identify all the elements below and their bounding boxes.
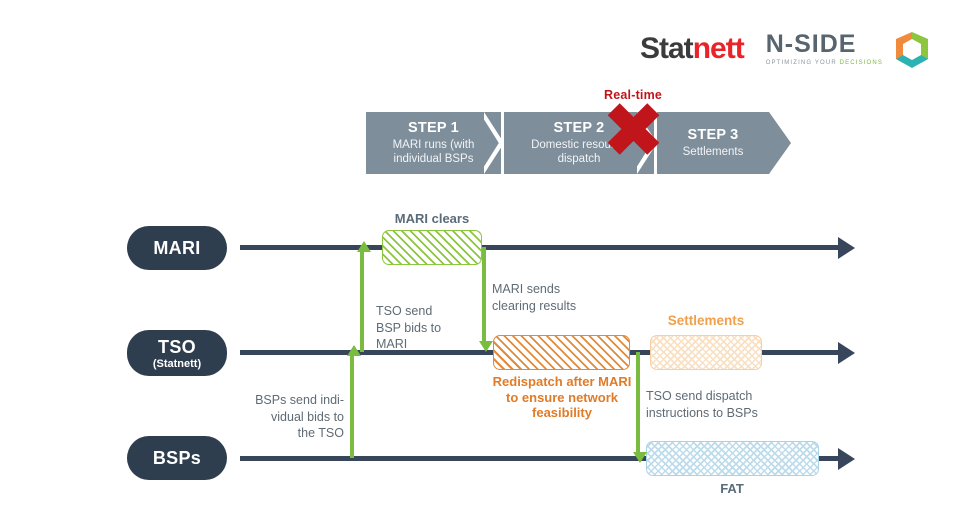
step-1-title: STEP 1 [408, 120, 459, 137]
statnett-logo: Statnett [640, 34, 744, 64]
row-label-bsps: BSPs [127, 436, 227, 480]
flow-tso-to-mari-shaft [360, 252, 364, 352]
timeline-mari-arrowhead [838, 237, 855, 259]
period-fat [646, 441, 819, 476]
step-2-title: STEP 2 [554, 120, 605, 137]
nside-tagline-plain: OPTIMIZING YOUR [766, 60, 840, 66]
step-1: STEP 1 MARI runs (with individual BSPs [366, 112, 501, 174]
note-tso-send-bsp-bids: TSO send BSP bids to MARI [376, 303, 481, 353]
timeline-tso-arrowhead [838, 342, 855, 364]
nside-logo: N-SIDE OPTIMIZING YOUR DECISIONS [766, 30, 931, 68]
row-label-mari: MARI [127, 226, 227, 270]
row-label-tso-name: TSO [158, 337, 196, 358]
timeline-mari [240, 245, 840, 250]
row-label-tso-sub: (Statnett) [153, 358, 201, 370]
nside-tagline-accent: DECISIONS [840, 60, 883, 66]
flow-bsps-to-tso-shaft [350, 356, 354, 458]
logo-bar: Statnett N-SIDE OPTIMIZING YOUR DECISION… [640, 26, 950, 72]
process-steps: STEP 1 MARI runs (with individual BSPs S… [366, 112, 791, 174]
timeline-bsps-arrowhead [838, 448, 855, 470]
nside-cube-icon [893, 30, 931, 68]
row-label-bsps-name: BSPs [153, 448, 201, 469]
period-mari-clears-label: MARI clears [372, 211, 492, 227]
flow-tso-to-mari-arrowhead [357, 241, 371, 252]
step-3: STEP 3 Settlements [657, 112, 769, 174]
statnett-logo-part1: Stat [640, 32, 693, 65]
nside-logo-name: N-SIDE [766, 32, 883, 57]
period-fat-label: FAT [672, 481, 792, 497]
nside-logo-tagline: OPTIMIZING YOUR DECISIONS [766, 60, 883, 66]
diagram-canvas: Statnett N-SIDE OPTIMIZING YOUR DECISION… [0, 0, 980, 531]
nside-logo-text: N-SIDE OPTIMIZING YOUR DECISIONS [766, 32, 883, 66]
red-x-icon [608, 104, 658, 154]
real-time-label: Real-time [604, 88, 662, 102]
step-3-title: STEP 3 [688, 127, 739, 144]
flow-bsps-to-tso-arrowhead [347, 345, 361, 356]
row-label-tso: TSO (Statnett) [127, 330, 227, 376]
note-bsps-send-individual: BSPs send indi- vidual bids to the TSO [240, 392, 344, 442]
row-label-mari-name: MARI [153, 238, 200, 259]
period-mari-clears [382, 230, 482, 265]
note-mari-sends-clearing: MARI sends clearing results [492, 281, 612, 314]
period-redispatch-label: Redispatch after MARI to ensure network … [489, 374, 635, 421]
period-settlements-label: Settlements [646, 313, 766, 329]
note-tso-send-dispatch: TSO send dispatch instructions to BSPs [646, 388, 796, 421]
period-redispatch [493, 335, 630, 370]
statnett-logo-part2: nett [693, 32, 744, 65]
step-3-desc: Settlements [661, 145, 765, 159]
step-arrow-tip [769, 112, 791, 174]
flow-tso-to-bsps-shaft [636, 352, 640, 452]
period-settlements [650, 335, 762, 370]
flow-tso-to-bsps-arrowhead [633, 452, 647, 463]
flow-mari-to-tso-shaft [482, 247, 486, 341]
step-1-desc: MARI runs (with individual BSPs [375, 138, 493, 166]
